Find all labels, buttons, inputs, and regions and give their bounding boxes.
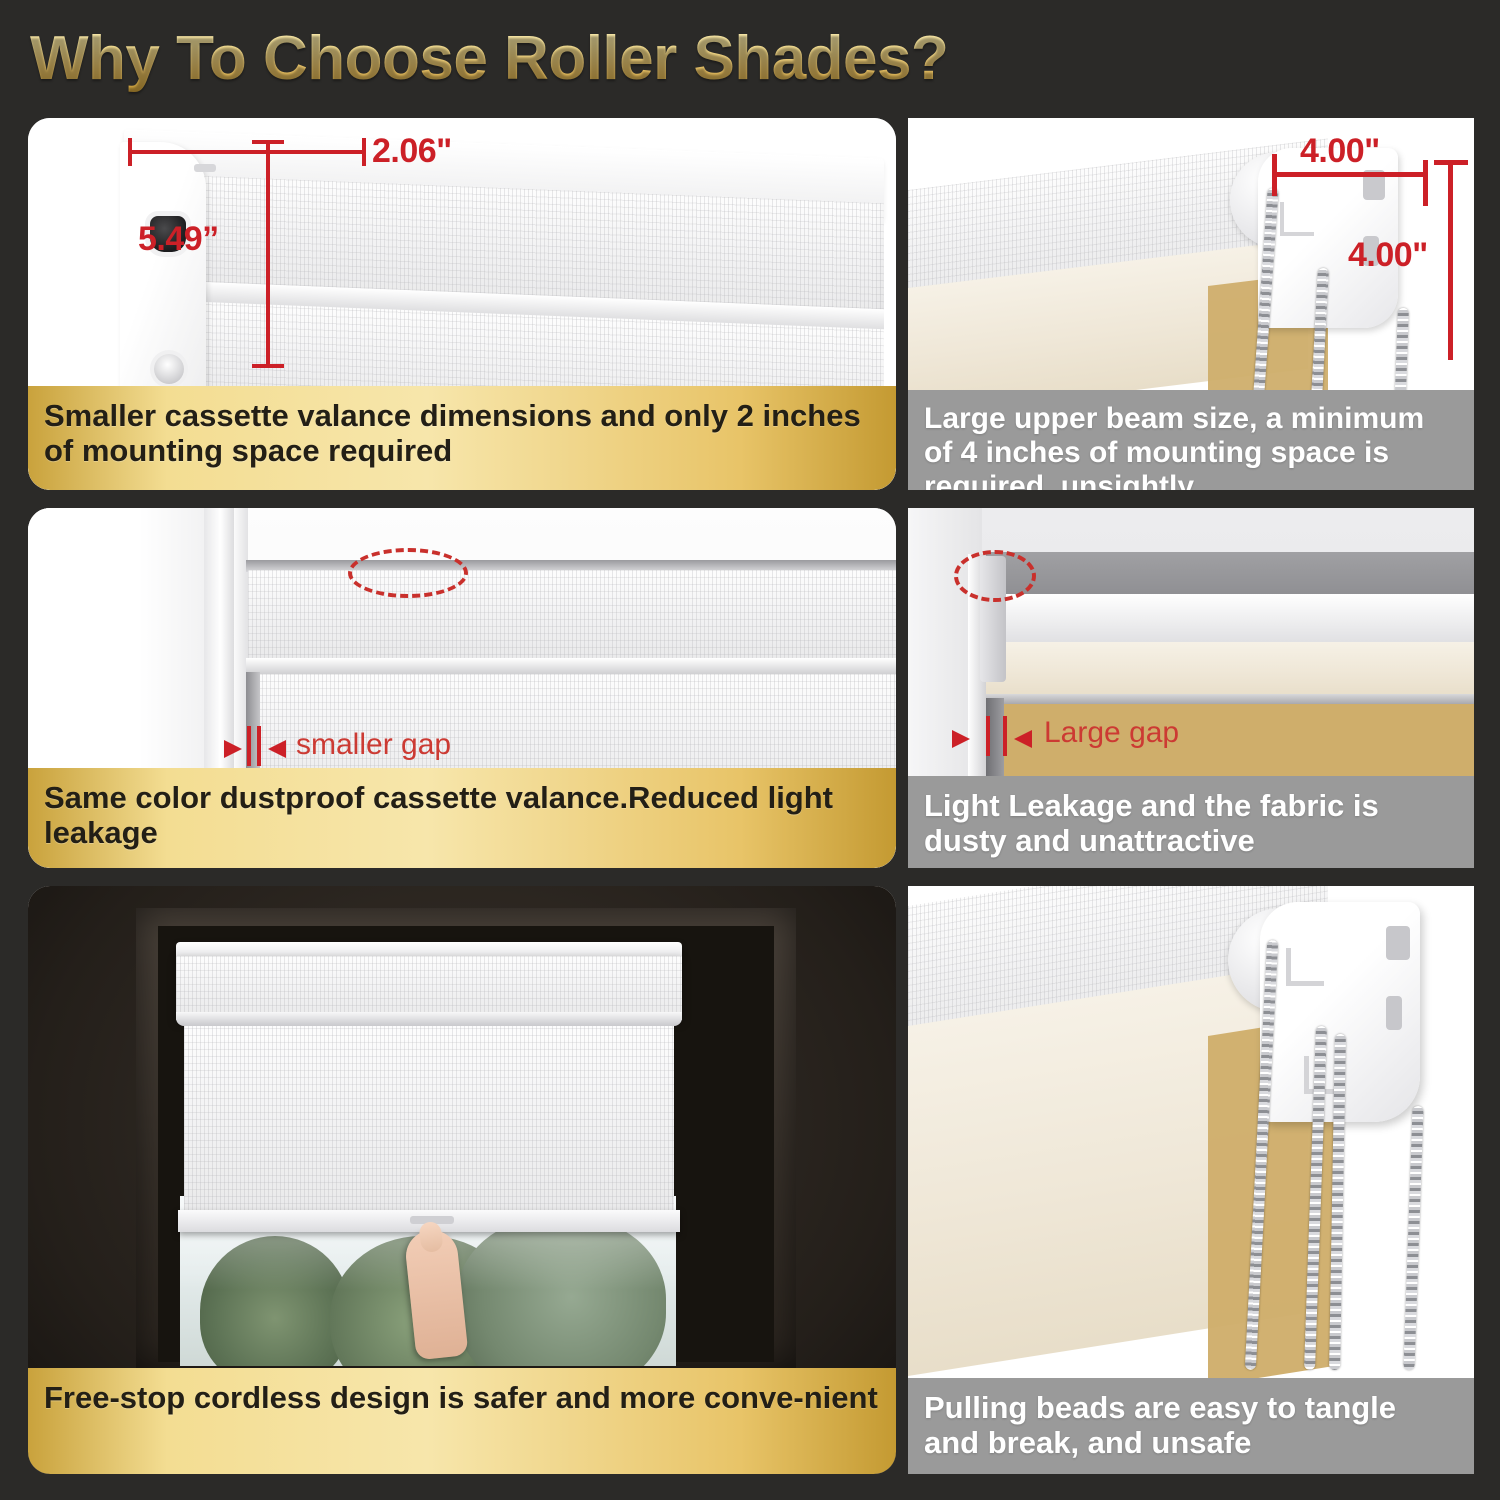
caption-large-upper-beam: Large upper beam size, a minimum of 4 in… — [908, 390, 1474, 490]
upper-beam-shadow — [986, 552, 1474, 598]
height-dim-tick-bottom — [252, 364, 284, 368]
page-title: Why To Choose Roller Shades? — [30, 12, 1230, 104]
shade-fabric — [184, 1026, 674, 1218]
panel-dustproof-valance: smaller gap Same color dustproof cassett… — [28, 508, 896, 868]
cassette-screw — [154, 354, 184, 384]
smaller-gap-label: smaller gap — [296, 728, 451, 762]
beam-width-tick-left — [1272, 154, 1277, 196]
beam-width-dimension-label: 4.00" — [1300, 132, 1380, 171]
panel-light-leakage: Large gap Light Leakage and the fabric i… — [908, 508, 1474, 868]
panel-cassette-dimensions: 2.06" 5.49” Smaller cassette valance dim… — [28, 118, 896, 490]
width-dim-tick-right — [362, 138, 366, 166]
width-dim-tick-left — [128, 138, 132, 166]
beam-height-tick-top — [1434, 160, 1468, 165]
beam-height-dim-line — [1448, 160, 1453, 360]
gap-mark-right — [257, 726, 261, 766]
valance-bottom-lip — [246, 658, 896, 674]
valance-fabric — [248, 570, 896, 662]
bead-chain-4 — [1403, 1106, 1423, 1370]
bracket-emboss-arrow-top — [1286, 948, 1324, 986]
cassette-valance — [176, 956, 682, 1020]
large-gap-label: Large gap — [1044, 716, 1179, 750]
beam-width-dim-line — [1272, 172, 1428, 177]
gap-mark-left — [247, 726, 251, 766]
caption-pulling-beads: Pulling beads are easy to tangle and bre… — [908, 1378, 1474, 1474]
cream-valance-strip — [986, 642, 1474, 698]
gap-arrow-left — [224, 740, 242, 758]
panel-large-upper-beam: 4.00" 4.00" Large upper beam size, a min… — [908, 118, 1474, 490]
highlight-ellipse — [954, 550, 1036, 602]
gap-arrow-right — [268, 740, 286, 758]
window-frame-molding — [204, 508, 234, 808]
gap-arrow-right — [1014, 730, 1032, 748]
gap-mark-right — [1003, 716, 1007, 756]
panel-cordless-design: Free-stop cordless design is safer and m… — [28, 886, 896, 1474]
width-dim-line — [128, 150, 366, 154]
height-dim-tick-top — [252, 140, 284, 144]
gap-arrow-left — [952, 730, 970, 748]
bracket-notch-bottom — [1386, 996, 1402, 1030]
valance-bottom-edge — [986, 694, 1474, 704]
height-dim-line — [266, 140, 270, 368]
gap-mark-left — [986, 716, 990, 756]
highlight-ellipse — [348, 548, 468, 598]
caption-dustproof-valance: Same color dustproof cassette valance.Re… — [28, 768, 896, 868]
panel-pulling-beads: Pulling beads are easy to tangle and bre… — [908, 886, 1474, 1474]
valance-lip — [176, 1012, 682, 1026]
width-dimension-label: 2.06" — [372, 132, 452, 171]
beam-height-dimension-label: 4.00" — [1348, 236, 1428, 275]
caption-cassette-dimensions: Smaller cassette valance dimensions and … — [28, 386, 896, 490]
roller-tube-body — [986, 594, 1474, 646]
caption-cordless-design: Free-stop cordless design is safer and m… — [28, 1368, 896, 1474]
caption-light-leakage: Light Leakage and the fabric is dusty an… — [908, 776, 1474, 868]
bracket-emboss-arrow — [1280, 202, 1314, 236]
page-title-text: Why To Choose Roller Shades? — [30, 23, 948, 94]
beam-width-tick-right — [1423, 160, 1428, 206]
height-dimension-label: 5.49” — [138, 220, 219, 259]
cassette-screw-top — [194, 164, 216, 172]
bracket-notch-top — [1386, 926, 1410, 960]
window-wall — [28, 508, 214, 808]
